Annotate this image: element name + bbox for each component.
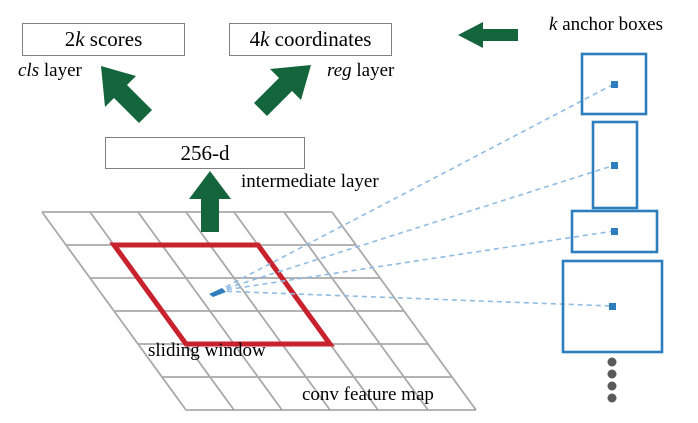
reg-layer-label: reg layer (327, 60, 394, 82)
sliding-window-label: sliding window (148, 340, 266, 362)
arrow-to-intermediate-icon (189, 171, 231, 232)
rpn-diagram-figure: 2k scores 4k coordinates 256-d cls layer… (0, 0, 698, 423)
reg-output-box[interactable]: 4k coordinates (229, 23, 392, 56)
conv-feature-map-label: conv feature map (302, 384, 434, 406)
sliding-window-outline (114, 245, 330, 344)
anchor-center-marker (209, 288, 226, 297)
cls-output-box[interactable]: 2k scores (22, 23, 185, 56)
reg-output-text: 4k coordinates (250, 27, 372, 52)
arrow-to-cls-icon (101, 66, 152, 123)
intermediate-layer-box[interactable]: 256-d (105, 137, 305, 169)
arrow-to-reg-icon (254, 65, 311, 116)
anchor-boxes-label: k anchor boxes (549, 14, 663, 36)
anchor-box-center-dots (609, 81, 618, 310)
ellipsis-dots-icon (608, 358, 617, 403)
intermediate-layer-text: 256-d (181, 141, 230, 166)
cls-output-text: 2k scores (65, 27, 143, 52)
conv-feature-map-grid (42, 212, 476, 410)
intermediate-layer-label: intermediate layer (241, 171, 379, 193)
arrow-anchors-to-reg-icon (458, 22, 518, 48)
cls-layer-label: cls layer (18, 60, 82, 82)
